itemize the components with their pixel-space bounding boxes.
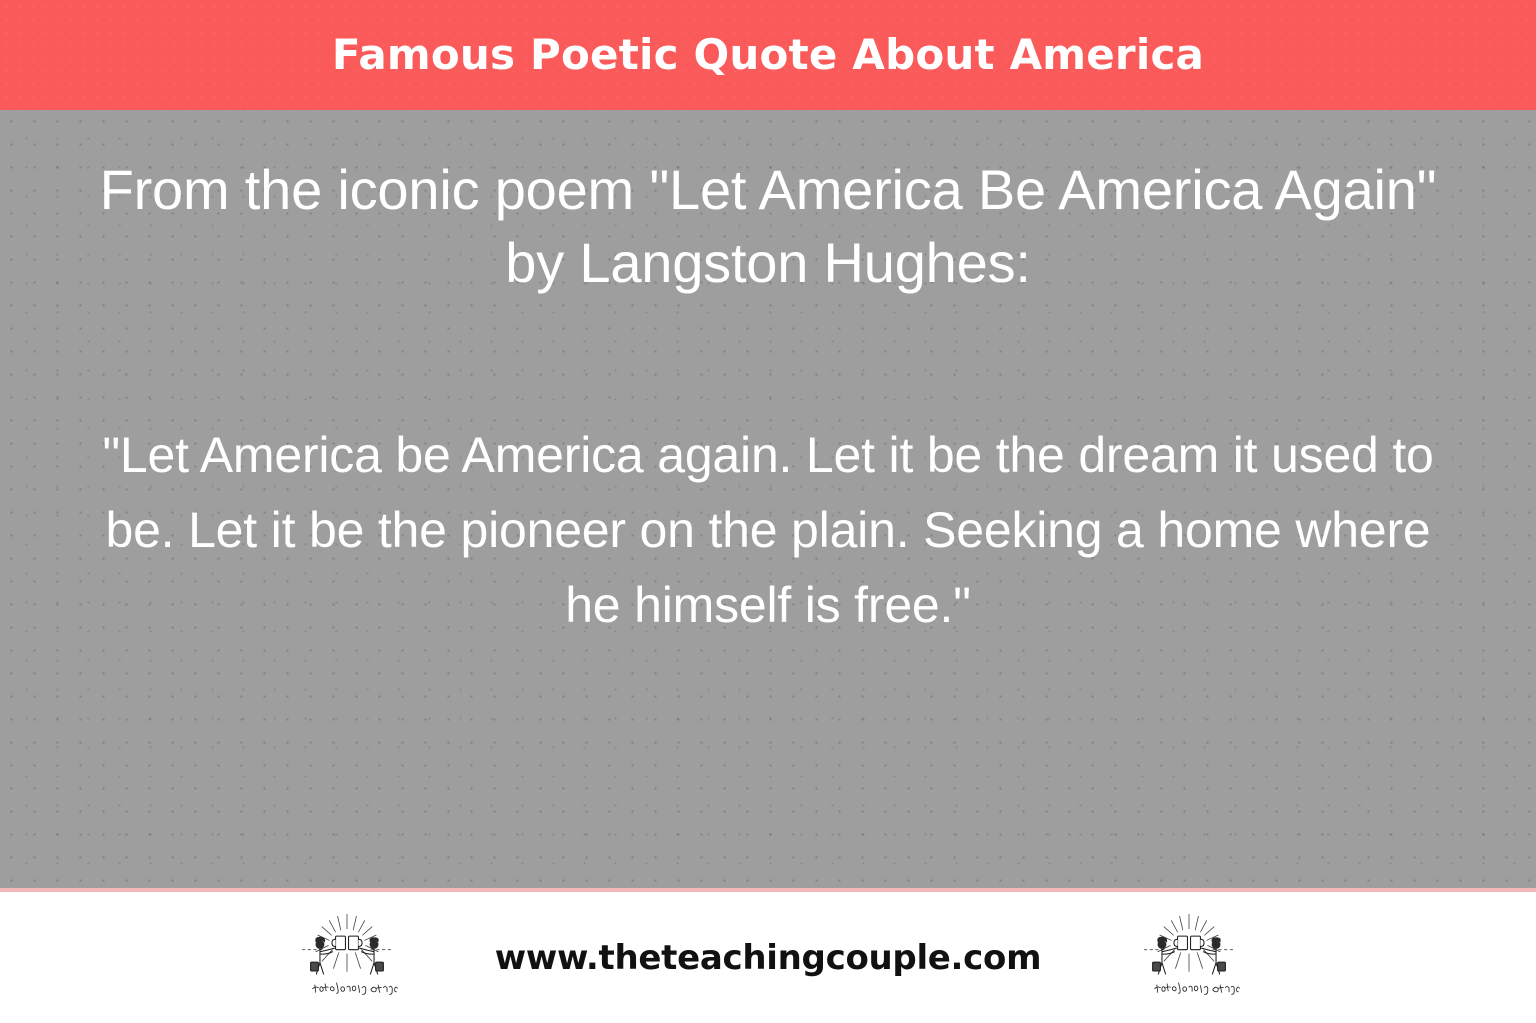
content-spacer [68,300,1468,418]
quote-graphic: Famous Poetic Quote About America From t… [0,0,1536,1023]
quote-text: "Let America be America again. Let it be… [73,418,1463,643]
quote-panel: From the iconic poem "Let America Be Ame… [0,110,1536,892]
teaching-couple-logo-icon [295,906,399,1010]
header-banner: Famous Poetic Quote About America [0,0,1536,110]
website-url[interactable]: www.theteachingcouple.com [495,938,1041,978]
teaching-couple-logo-icon [1137,906,1241,1010]
footer-bar: www.theteachingcouple.com [0,892,1536,1023]
intro-text: From the iconic poem "Let America Be Ame… [93,154,1443,300]
page-title: Famous Poetic Quote About America [332,32,1204,78]
footer-content: www.theteachingcouple.com [0,906,1536,1010]
quote-panel-inner: From the iconic poem "Let America Be Ame… [68,154,1468,643]
